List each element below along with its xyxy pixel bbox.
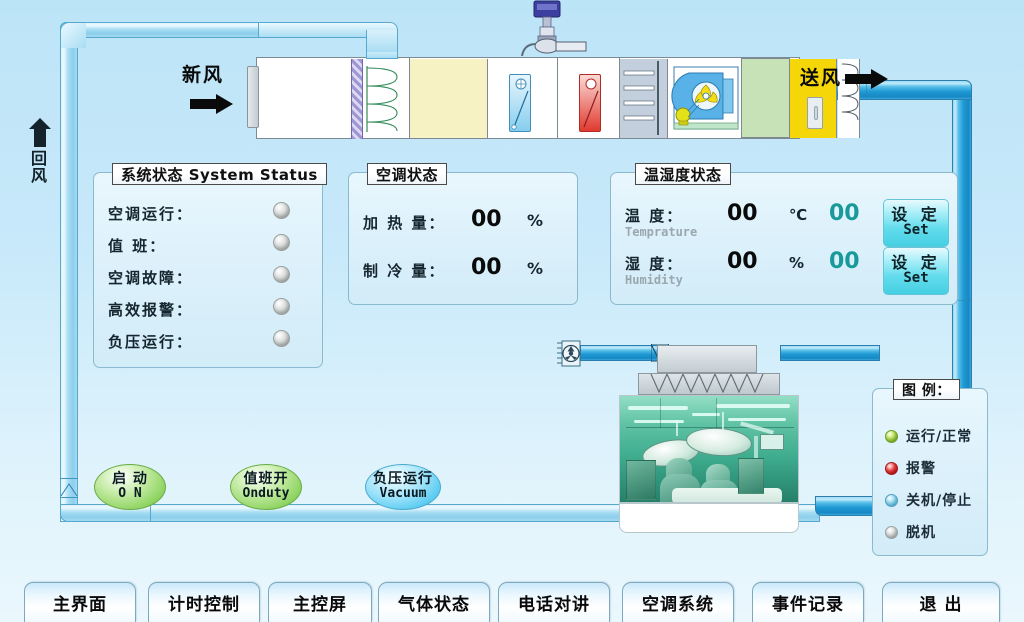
tab-label: 退 出 — [920, 590, 963, 615]
th-row-temperature: 温 度： Temprature 00 ℃ 00 设 定 Set — [611, 201, 959, 247]
vacuum-button-label-cn: 负压运行 — [373, 472, 433, 487]
status-label: 高效报警： — [108, 299, 193, 320]
th-row-sublabel: Temprature — [625, 225, 697, 239]
tab-main-screen[interactable]: 主界面 — [24, 582, 136, 622]
status-label: 空调运行： — [108, 203, 193, 224]
start-on-button[interactable]: 启 动 O N — [94, 464, 166, 510]
return-air-arrow-icon — [29, 118, 51, 152]
ac-row-heat: 加 热 量： 00 % — [349, 207, 579, 237]
ac-row-label: 加 热 量： — [363, 212, 445, 233]
onduty-button-label-en: Onduty — [243, 487, 290, 502]
legend-lamp-stopped — [885, 494, 898, 507]
temp-humidity-panel: 温湿度状态 温 度： Temprature 00 ℃ 00 设 定 Set 湿 … — [610, 172, 958, 305]
status-lamp — [273, 330, 290, 347]
tab-label: 事件记录 — [772, 590, 844, 615]
ac-row-value: 00 — [471, 207, 502, 232]
or-supply-plenum — [657, 345, 757, 373]
legend-lamp-running — [885, 430, 898, 443]
ahu-inlet-damper — [247, 66, 259, 128]
th-row-label: 湿 度： — [625, 253, 683, 274]
tab-label: 主界面 — [53, 590, 107, 615]
supply-air-arrow-icon — [845, 68, 889, 94]
status-label: 空调故障： — [108, 267, 193, 288]
onduty-button-label-cn: 值班开 — [244, 472, 289, 487]
th-row-humidity: 湿 度： Humidity 00 % 00 设 定 Set — [611, 249, 959, 295]
tab-label: 电话对讲 — [518, 590, 590, 615]
ahu-section-pre-filter — [351, 59, 363, 139]
return-air-label: 回风 — [31, 150, 49, 185]
ahu-section-humidifier — [620, 59, 668, 138]
operating-room-photo — [619, 395, 799, 503]
bottom-navigation-bar: 主界面 计时控制 主控屏 气体状态 电话对讲 空调系统 事件记录 退 出 — [0, 578, 1024, 622]
supply-air-label: 送风 — [800, 63, 842, 90]
tab-label: 气体状态 — [398, 590, 470, 615]
control-valve-actuator — [516, 0, 590, 58]
status-row: 值 班： — [94, 231, 324, 261]
tab-gas-status[interactable]: 气体状态 — [378, 582, 490, 622]
th-row-value: 00 — [727, 249, 758, 274]
tab-event-log[interactable]: 事件记录 — [752, 582, 864, 622]
th-row-unit: % — [789, 254, 804, 272]
status-row: 负压运行： — [94, 327, 324, 357]
or-laminar-diffuser — [638, 373, 780, 395]
duct-corner-top-left — [60, 22, 86, 48]
legend-item: 运行/正常 — [885, 426, 972, 446]
duct-left-riser — [60, 22, 78, 522]
legend-label: 脱机 — [906, 522, 936, 542]
set-humidity-button[interactable]: 设 定 Set — [883, 247, 949, 295]
th-row-setpoint: 00 — [829, 201, 860, 226]
tab-label: 空调系统 — [642, 590, 714, 615]
duct-or-supply-right — [780, 345, 880, 361]
status-row: 空调故障： — [94, 263, 324, 293]
status-lamp — [273, 298, 290, 315]
tab-intercom[interactable]: 电话对讲 — [498, 582, 610, 622]
set-button-label-en: Set — [903, 223, 928, 238]
th-row-value: 00 — [727, 201, 758, 226]
status-label: 值 班： — [108, 235, 166, 256]
hvac-mimic-screen: 新风 送风 回风 系统状态 System Status 空调运行： 值 班： — [0, 0, 1024, 622]
ahu-divider-2 — [557, 58, 558, 138]
legend-panel: 图 例： 运行/正常 报警 关机/停止 脱机 — [872, 388, 988, 556]
tab-exit[interactable]: 退 出 — [882, 582, 1000, 622]
legend-item: 报警 — [885, 458, 936, 478]
th-row-sublabel: Humidity — [625, 273, 683, 287]
vacuum-button[interactable]: 负压运行 Vacuum — [365, 464, 441, 510]
return-damper-icon — [60, 478, 78, 498]
fresh-air-arrow-icon — [190, 93, 234, 119]
vacuum-button-label-en: Vacuum — [380, 487, 427, 502]
set-button-label-cn: 设 定 — [891, 255, 941, 271]
duct-top-left — [60, 22, 260, 38]
ac-row-unit: % — [527, 211, 543, 230]
ac-row-value: 00 — [471, 255, 502, 280]
ac-row-label: 制 冷 量： — [363, 260, 445, 281]
legend-lamp-offline — [885, 526, 898, 539]
legend-label: 关机/停止 — [906, 490, 972, 510]
exhaust-fan-icon — [556, 340, 586, 367]
ac-status-panel: 空调状态 加 热 量： 00 % 制 冷 量： 00 % — [348, 172, 578, 305]
legend-lamp-alarm — [885, 462, 898, 475]
status-row: 高效报警： — [94, 295, 324, 325]
ac-row-unit: % — [527, 259, 543, 278]
legend-item: 关机/停止 — [885, 490, 972, 510]
start-button-label-cn: 启 动 — [112, 472, 148, 487]
ahu-section-heat-recovery — [365, 64, 403, 134]
fresh-air-label: 新风 — [182, 60, 224, 87]
ac-status-title: 空调状态 — [367, 163, 447, 185]
status-row: 空调运行： — [94, 199, 324, 229]
status-label: 负压运行： — [108, 331, 193, 352]
tab-label: 计时控制 — [168, 590, 240, 615]
onduty-button[interactable]: 值班开 Onduty — [230, 464, 302, 510]
legend-item: 脱机 — [885, 522, 936, 542]
air-handling-unit — [256, 57, 800, 139]
tab-main-panel[interactable]: 主控屏 — [268, 582, 372, 622]
or-room-wall — [619, 503, 799, 533]
status-lamp — [273, 266, 290, 283]
legend-title: 图 例： — [893, 379, 960, 400]
system-status-title: 系统状态 System Status — [112, 163, 327, 185]
th-row-unit: ℃ — [789, 206, 807, 224]
temp-humidity-title: 温湿度状态 — [635, 163, 731, 185]
th-row-setpoint: 00 — [829, 249, 860, 274]
ahu-heating-coil-indicator — [579, 74, 601, 132]
start-button-label-en: O N — [118, 487, 141, 502]
legend-label: 报警 — [906, 458, 936, 478]
set-temperature-button[interactable]: 设 定 Set — [883, 199, 949, 247]
ac-row-cool: 制 冷 量： 00 % — [349, 255, 579, 285]
silencer-access-door — [807, 97, 823, 129]
tab-timer-control[interactable]: 计时控制 — [148, 582, 260, 622]
tab-label: 主控屏 — [293, 590, 347, 615]
legend-label: 运行/正常 — [906, 426, 972, 446]
ahu-outlet-green — [741, 58, 790, 138]
system-status-panel: 系统状态 System Status 空调运行： 值 班： 空调故障： 高效报警… — [93, 172, 323, 368]
set-button-label-cn: 设 定 — [891, 207, 941, 223]
tab-hvac-system[interactable]: 空调系统 — [622, 582, 734, 622]
set-button-label-en: Set — [903, 271, 928, 286]
th-row-label: 温 度： — [625, 205, 683, 226]
ahu-section-medium-filter — [410, 59, 488, 138]
status-lamp — [273, 202, 290, 219]
ahu-cooling-coil-indicator — [509, 74, 531, 132]
duct-drop-to-ahu — [366, 30, 398, 52]
status-lamp — [273, 234, 290, 251]
